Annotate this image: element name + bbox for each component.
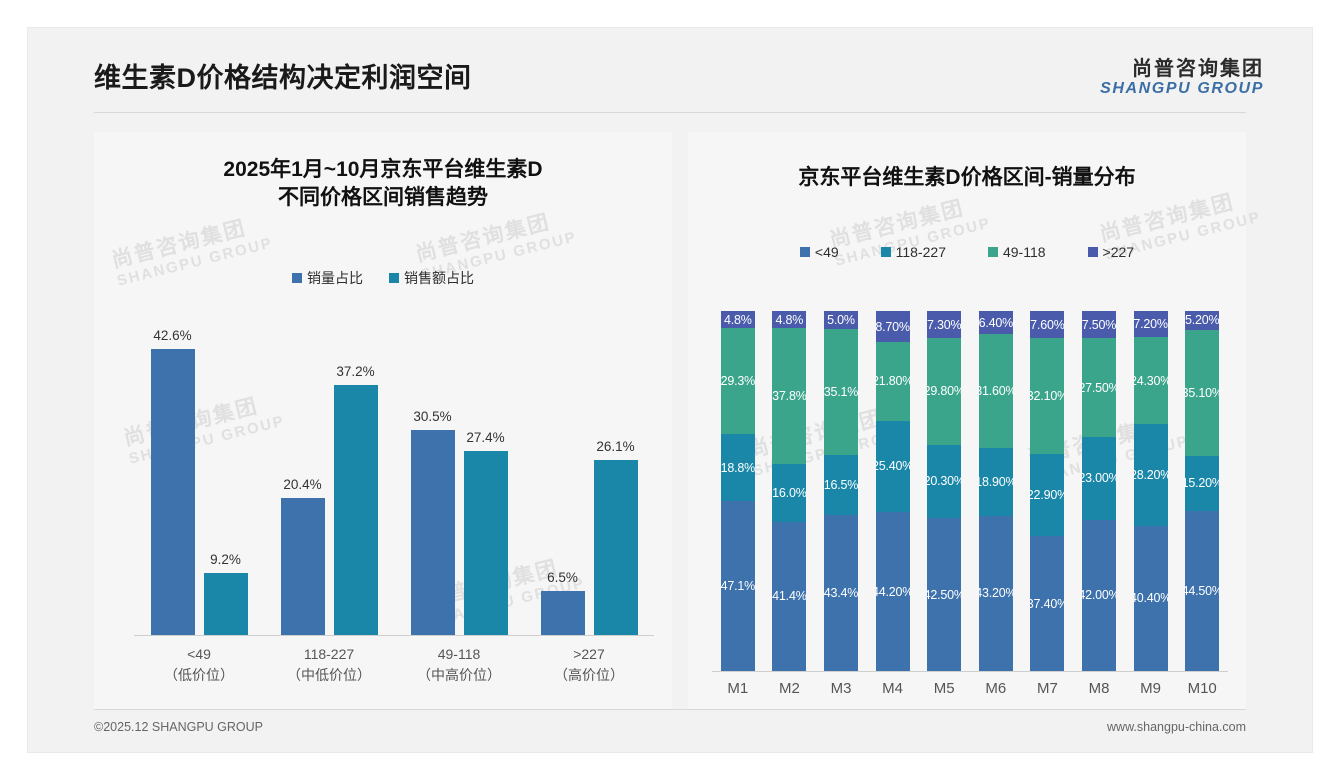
segment-value-label: 37.8% (772, 389, 806, 403)
stacked-bar-column[interactable]: 7.20%24.30%28.20%40.40% (1134, 311, 1168, 671)
stacked-bar-column[interactable]: 7.30%29.80%20.30%42.50% (927, 311, 961, 671)
segment-value-label: 6.40% (979, 316, 1013, 330)
legend-swatch-icon (1088, 247, 1098, 257)
segment-value-label: 42.00% (1082, 588, 1116, 602)
bar-rect[interactable] (411, 430, 455, 635)
bar-rect[interactable] (204, 573, 248, 635)
legend-swatch-icon (292, 273, 302, 283)
stacked-bar-segment[interactable]: 42.50% (927, 518, 961, 671)
stacked-bar-segment[interactable]: 7.20% (1134, 311, 1168, 337)
bar-column[interactable]: 30.5% (411, 299, 455, 635)
segment-value-label: 43.20% (979, 586, 1013, 600)
legend-item[interactable]: >227 (1088, 244, 1135, 260)
x-axis-label-tier: （低价位） (134, 665, 264, 686)
left-chart-title-line1: 2025年1月~10月京东平台维生素D (94, 156, 672, 184)
right-chart-x-labels: M1M2M3M4M5M6M7M8M9M10 (712, 680, 1228, 702)
stacked-bar-segment[interactable]: 21.80% (876, 342, 910, 420)
bar-column[interactable]: 42.6% (151, 299, 195, 635)
bar-group: 42.6%9.2% (134, 299, 264, 635)
x-axis-label: M5 (934, 680, 955, 697)
x-axis-label: M7 (1037, 680, 1058, 697)
legend-item[interactable]: 销量占比 (292, 268, 363, 288)
stacked-bar-segment[interactable]: 22.90% (1030, 454, 1064, 536)
stacked-bar-segment[interactable]: 43.4% (824, 515, 858, 671)
segment-value-label: 29.3% (721, 374, 755, 388)
bar-column[interactable]: 6.5% (541, 299, 585, 635)
bar-column[interactable]: 27.4% (464, 299, 508, 635)
right-chart-plot: 4.8%29.3%18.8%47.1%4.8%37.8%16.0%41.4%5.… (712, 312, 1228, 672)
stacked-bar-segment[interactable]: 43.20% (979, 516, 1013, 671)
stacked-bar-segment[interactable]: 7.30% (927, 311, 961, 337)
right-chart-title: 京东平台维生素D价格区间-销量分布 (688, 164, 1246, 192)
stacked-bar-segment[interactable]: 18.8% (721, 434, 755, 502)
segment-value-label: 5.0% (827, 313, 855, 327)
x-axis-label-tier: （高价位） (524, 665, 654, 686)
x-axis-label-tier: （中低价位） (264, 665, 394, 686)
left-chart-title-line2: 不同价格区间销售趋势 (94, 184, 672, 212)
segment-value-label: 40.40% (1134, 591, 1168, 605)
segment-value-label: 25.40% (876, 459, 910, 473)
segment-value-label: 37.40% (1030, 597, 1064, 611)
segment-value-label: 24.30% (1134, 374, 1168, 388)
stacked-bar-segment[interactable]: 37.40% (1030, 536, 1064, 671)
legend-swatch-icon (800, 247, 810, 257)
segment-value-label: 23.00% (1082, 471, 1116, 485)
brand-name-en: SHANGPU GROUP (1100, 80, 1264, 98)
stacked-bar-segment[interactable]: 16.5% (824, 455, 858, 514)
x-axis-label: M4 (882, 680, 903, 697)
stacked-bar-column[interactable]: 5.0%35.1%16.5%43.4% (824, 311, 858, 671)
segment-value-label: 44.50% (1185, 584, 1219, 598)
stacked-bar-column[interactable]: 6.40%31.60%18.90%43.20% (979, 311, 1013, 671)
right-chart-panel: 尚普咨询集团 SHANGPU GROUP 尚普咨询集团 SHANGPU GROU… (688, 132, 1246, 710)
x-axis-label-range: <49 (134, 644, 264, 665)
footer-copyright: ©2025.12 SHANGPU GROUP (94, 720, 263, 734)
segment-value-label: 47.1% (721, 579, 755, 593)
legend-swatch-icon (988, 247, 998, 257)
stacked-bar-column[interactable]: 4.8%29.3%18.8%47.1% (721, 311, 755, 671)
legend-label: 销售额占比 (404, 268, 474, 288)
stacked-bar-segment[interactable]: 7.60% (1030, 311, 1064, 338)
stacked-bar-segment[interactable]: 5.0% (824, 311, 858, 329)
segment-value-label: 42.50% (927, 588, 961, 602)
x-axis-label: M6 (985, 680, 1006, 697)
brand-logo: 尚普咨询集团 SHANGPU GROUP (1100, 58, 1264, 98)
segment-value-label: 18.8% (721, 461, 755, 475)
stacked-bar-segment[interactable]: 35.1% (824, 329, 858, 455)
stacked-bar-segment[interactable]: 18.90% (979, 448, 1013, 516)
segment-value-label: 7.50% (1082, 318, 1116, 332)
bar-value-label: 42.6% (153, 328, 191, 343)
stacked-bar-segment[interactable]: 41.4% (772, 522, 806, 671)
left-chart-plot: 42.6%9.2%20.4%37.2%30.5%27.4%6.5%26.1% (134, 300, 654, 636)
left-chart-panel: 尚普咨询集团 SHANGPU GROUP 尚普咨询集团 SHANGPU GROU… (94, 132, 672, 710)
legend-label: <49 (815, 244, 839, 260)
bar-rect[interactable] (151, 349, 195, 635)
stacked-bar-segment[interactable]: 4.8% (772, 311, 806, 328)
stacked-bar-column[interactable]: 5.20%35.10%15.20%44.50% (1185, 311, 1219, 671)
bar-column[interactable]: 26.1% (594, 299, 638, 635)
stacked-bar-segment[interactable]: 5.20% (1185, 311, 1219, 330)
bar-rect[interactable] (334, 385, 378, 635)
legend-label: 49-118 (1003, 244, 1046, 260)
x-axis-label: <49（低价位） (134, 644, 264, 686)
bar-column[interactable]: 9.2% (204, 299, 248, 635)
stacked-bar-segment[interactable]: 44.20% (876, 512, 910, 671)
stacked-bar-segment[interactable]: 47.1% (721, 501, 755, 671)
segment-value-label: 27.50% (1082, 381, 1116, 395)
header-divider (94, 112, 1246, 113)
segment-value-label: 7.20% (1134, 317, 1168, 331)
left-chart-title: 2025年1月~10月京东平台维生素D 不同价格区间销售趋势 (94, 156, 672, 213)
x-axis-label: M10 (1188, 680, 1217, 697)
x-axis-line (712, 671, 1228, 672)
segment-value-label: 18.90% (979, 475, 1013, 489)
segment-value-label: 8.70% (876, 320, 910, 334)
segment-value-label: 22.90% (1030, 488, 1064, 502)
bar-value-label: 37.2% (336, 364, 374, 379)
stacked-bar-segment[interactable]: 40.40% (1134, 526, 1168, 671)
bar-value-label: 9.2% (210, 552, 241, 567)
bar-rect[interactable] (281, 498, 325, 635)
segment-value-label: 35.10% (1185, 386, 1219, 400)
stacked-bar-segment[interactable]: 27.50% (1082, 338, 1116, 437)
stacked-bar-segment[interactable]: 44.50% (1185, 511, 1219, 671)
x-axis-label: M3 (831, 680, 852, 697)
x-axis-label-range: 118-227 (264, 644, 394, 665)
segment-value-label: 29.80% (927, 384, 961, 398)
legend-item[interactable]: 49-118 (988, 244, 1046, 260)
bar-value-label: 30.5% (413, 409, 451, 424)
segment-value-label: 16.5% (824, 478, 858, 492)
stacked-bar-segment[interactable]: 25.40% (876, 421, 910, 512)
stacked-bar-segment[interactable]: 4.8% (721, 311, 755, 328)
x-axis-label: 118-227（中低价位） (264, 644, 394, 686)
stacked-bar-segment[interactable]: 23.00% (1082, 437, 1116, 520)
slide-header: 维生素D价格结构决定利润空间 尚普咨询集团 SHANGPU GROUP (28, 28, 1312, 114)
segment-value-label: 4.8% (724, 313, 752, 327)
bar-group: 20.4%37.2% (264, 299, 394, 635)
segment-value-label: 41.4% (772, 589, 806, 603)
segment-value-label: 32.10% (1030, 389, 1064, 403)
segment-value-label: 5.20% (1185, 313, 1219, 327)
legend-swatch-icon (881, 247, 891, 257)
legend-label: 118-227 (896, 244, 946, 260)
footer-divider (94, 709, 1246, 710)
x-axis-label-range: >227 (524, 644, 654, 665)
bar-group: 6.5%26.1% (524, 299, 654, 635)
x-axis-label: M8 (1089, 680, 1110, 697)
segment-value-label: 16.0% (772, 486, 806, 500)
segment-value-label: 43.4% (824, 586, 858, 600)
stacked-bar-segment[interactable]: 20.30% (927, 445, 961, 518)
legend-label: 销量占比 (307, 268, 363, 288)
segment-value-label: 35.1% (824, 385, 858, 399)
bar-rect[interactable] (464, 451, 508, 635)
stacked-bar-segment[interactable]: 42.00% (1082, 520, 1116, 671)
bar-rect[interactable] (541, 591, 585, 635)
x-axis-label: 49-118（中高价位） (394, 644, 524, 686)
segment-value-label: 4.8% (776, 313, 804, 327)
bar-value-label: 26.1% (596, 439, 634, 454)
stacked-bar-column[interactable]: 8.70%21.80%25.40%44.20% (876, 311, 910, 671)
segment-value-label: 7.30% (927, 318, 961, 332)
segment-value-label: 7.60% (1030, 318, 1064, 332)
segment-value-label: 28.20% (1134, 468, 1168, 482)
stacked-bar-column[interactable]: 4.8%37.8%16.0%41.4% (772, 311, 806, 671)
segment-value-label: 15.20% (1185, 476, 1219, 490)
stacked-bar-segment[interactable]: 8.70% (876, 311, 910, 342)
bar-value-label: 6.5% (547, 570, 578, 585)
stacked-bar-segment[interactable]: 37.8% (772, 328, 806, 464)
right-chart-legend: <49118-22749-118>227 (688, 244, 1246, 260)
segment-value-label: 21.80% (876, 374, 910, 388)
x-axis-label: M1 (727, 680, 748, 697)
x-axis-line (134, 635, 654, 636)
x-axis-label-range: 49-118 (394, 644, 524, 665)
segment-value-label: 31.60% (979, 384, 1013, 398)
left-chart-x-labels: <49（低价位）118-227（中低价位）49-118（中高价位）>227（高价… (134, 644, 654, 686)
stacked-bar-segment[interactable]: 29.80% (927, 338, 961, 445)
stacked-bar-column[interactable]: 7.60%32.10%22.90%37.40% (1030, 311, 1064, 671)
stacked-bar-segment[interactable]: 24.30% (1134, 337, 1168, 424)
stacked-bar-segment[interactable]: 29.3% (721, 328, 755, 433)
legend-label: >227 (1103, 244, 1135, 260)
stacked-bar-segment[interactable]: 28.20% (1134, 424, 1168, 525)
left-chart-legend: 销量占比销售额占比 (94, 268, 672, 288)
bar-group: 30.5%27.4% (394, 299, 524, 635)
page-title: 维生素D价格结构决定利润空间 (94, 56, 472, 95)
segment-value-label: 20.30% (927, 474, 961, 488)
x-axis-label: >227（高价位） (524, 644, 654, 686)
bar-column[interactable]: 37.2% (334, 299, 378, 635)
bar-value-label: 27.4% (466, 430, 504, 445)
x-axis-label: M2 (779, 680, 800, 697)
legend-swatch-icon (389, 273, 399, 283)
stacked-bar-segment[interactable]: 6.40% (979, 311, 1013, 334)
bar-rect[interactable] (594, 460, 638, 635)
stacked-bar-segment[interactable]: 35.10% (1185, 330, 1219, 456)
x-axis-label: M9 (1140, 680, 1161, 697)
x-axis-label-tier: （中高价位） (394, 665, 524, 686)
stacked-bar-segment[interactable]: 15.20% (1185, 456, 1219, 511)
legend-item[interactable]: 118-227 (881, 244, 946, 260)
stacked-bar-segment[interactable]: 7.50% (1082, 311, 1116, 338)
slide: 维生素D价格结构决定利润空间 尚普咨询集团 SHANGPU GROUP 尚普咨询… (28, 28, 1312, 752)
segment-value-label: 44.20% (876, 585, 910, 599)
stacked-bar-segment[interactable]: 32.10% (1030, 338, 1064, 454)
bar-value-label: 20.4% (283, 477, 321, 492)
legend-item[interactable]: <49 (800, 244, 839, 260)
stacked-bar-column[interactable]: 7.50%27.50%23.00%42.00% (1082, 311, 1116, 671)
footer-website: www.shangpu-china.com (1107, 720, 1246, 734)
brand-name-cn: 尚普咨询集团 (1100, 58, 1264, 80)
legend-item[interactable]: 销售额占比 (389, 268, 474, 288)
bar-column[interactable]: 20.4% (281, 299, 325, 635)
stacked-bar-segment[interactable]: 16.0% (772, 464, 806, 522)
stacked-bar-segment[interactable]: 31.60% (979, 334, 1013, 448)
